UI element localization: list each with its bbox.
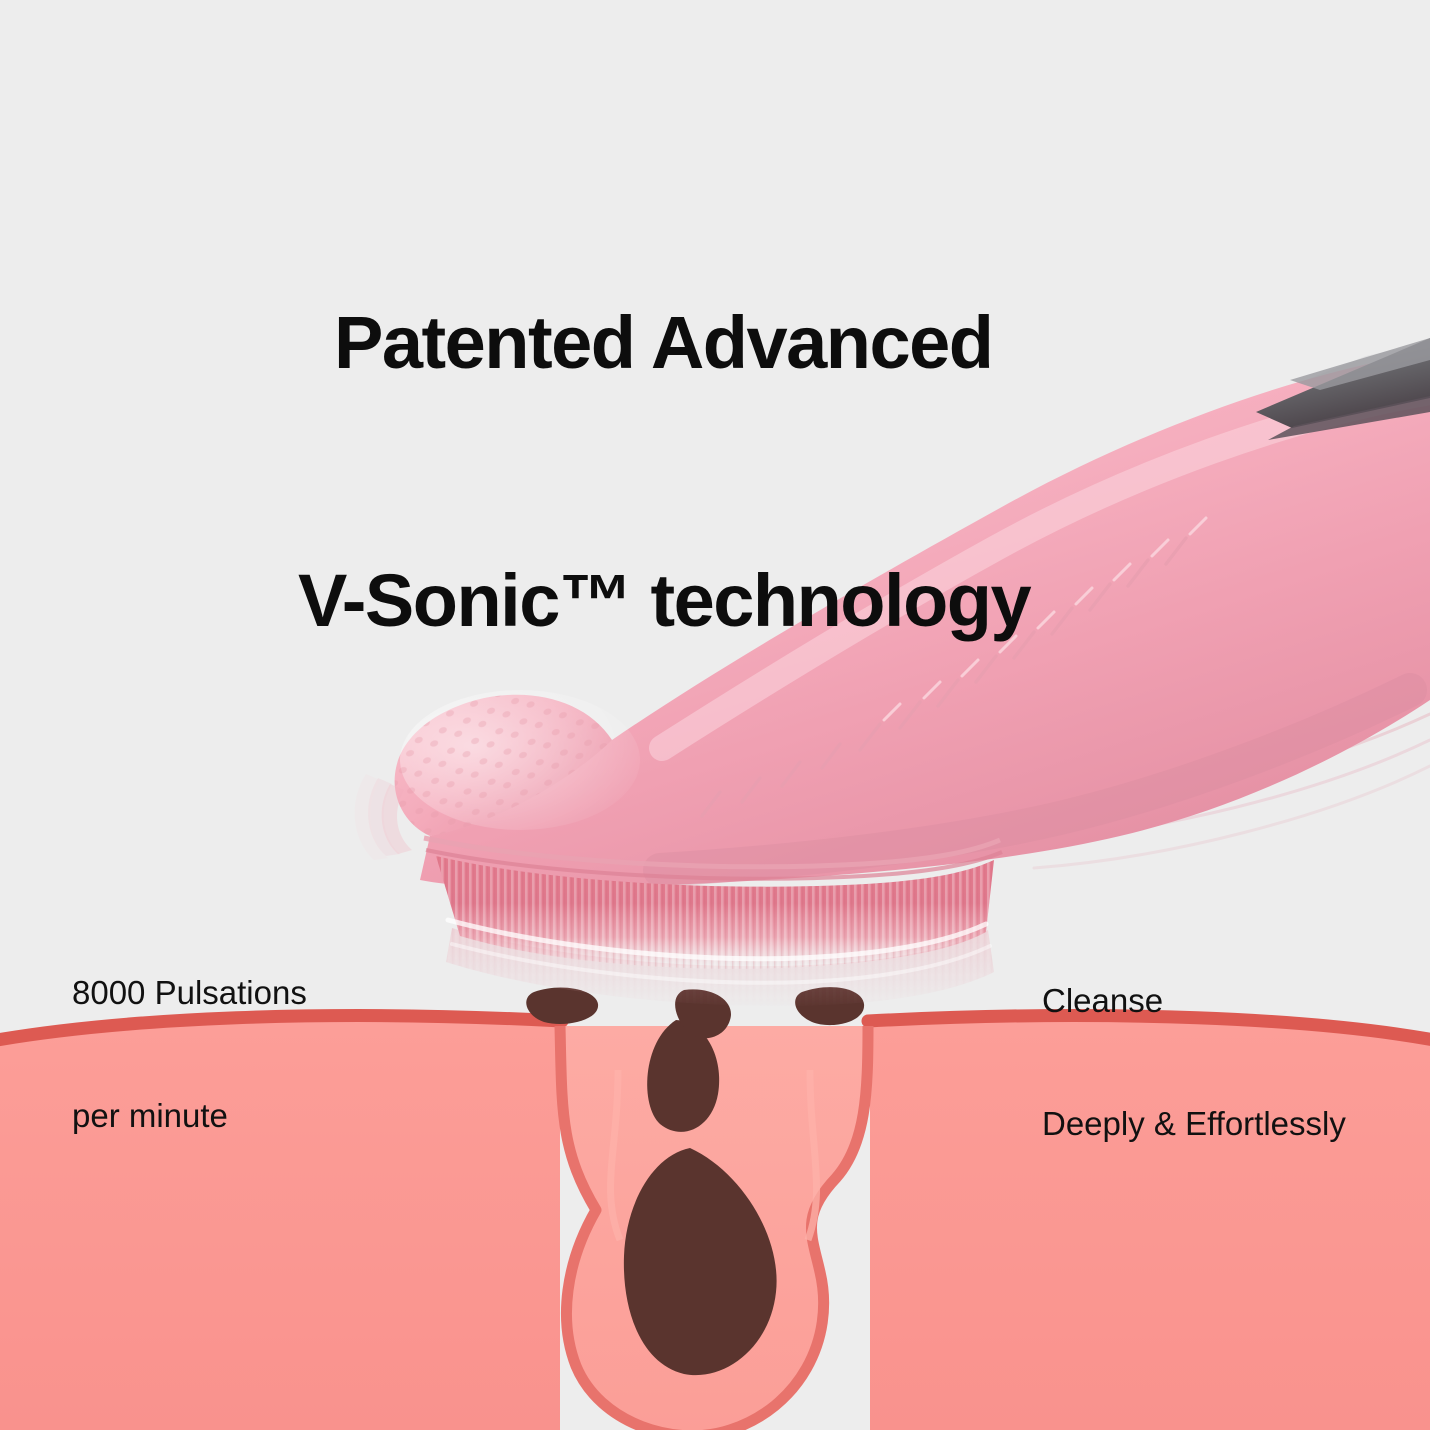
- annotation-pulsations: 8000 Pulsations per minute: [72, 890, 307, 1218]
- page-title: Patented Advanced V-Sonic™ technology: [298, 128, 1278, 816]
- annotation-cleanse-line-2: Deeply & Effortlessly: [1042, 1103, 1346, 1144]
- annotation-cleanse-line-1: Cleanse: [1042, 980, 1346, 1021]
- headline-line-2: V-Sonic™ technology: [298, 558, 1278, 644]
- headline-line-1: Patented Advanced: [298, 300, 1278, 386]
- product-feature-graphic: Patented Advanced V-Sonic™ technology 80…: [0, 0, 1430, 1430]
- annotation-pulsations-line-1: 8000 Pulsations: [72, 972, 307, 1013]
- annotation-cleanse: Cleanse Deeply & Effortlessly: [1042, 898, 1346, 1226]
- annotation-pulsations-line-2: per minute: [72, 1095, 307, 1136]
